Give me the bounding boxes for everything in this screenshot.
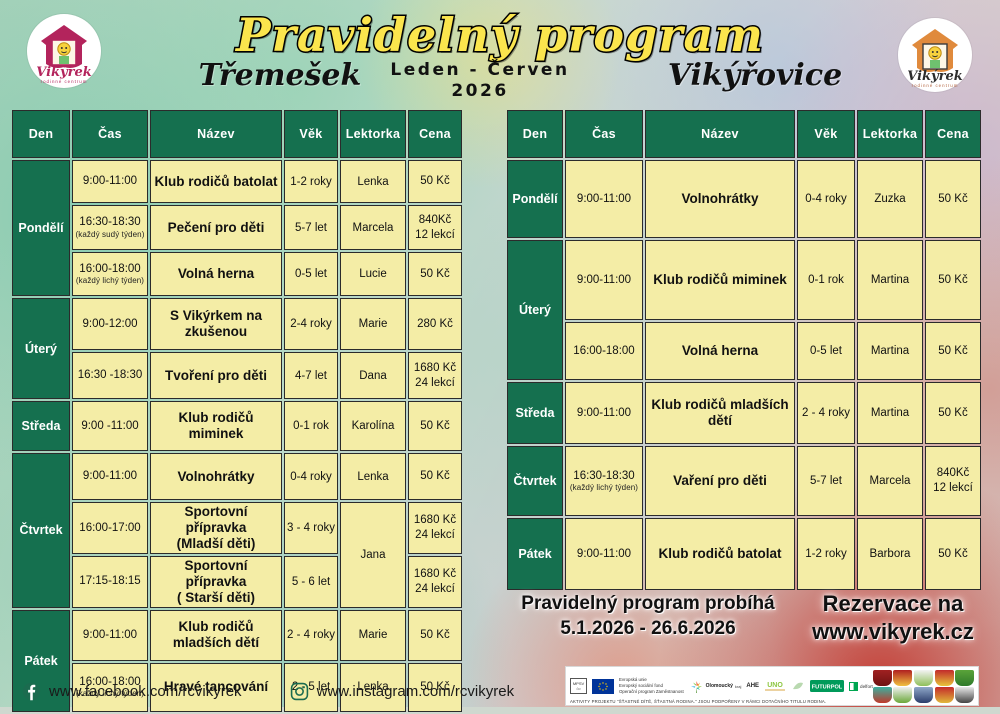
lektorka-cell: Marie <box>340 610 406 661</box>
time-cell: 16:30 -18:30 <box>72 352 148 399</box>
lektorka-cell: Lenka <box>340 453 406 500</box>
svg-text:Vikýrek: Vikýrek <box>907 69 963 84</box>
column-header-čas: Čas <box>565 110 643 158</box>
poster-header: Vikýrek rodinné centrum Vikýrek rodinné … <box>0 0 1000 108</box>
table-body-left: Pondělí9:00-11:00Klub rodičů batolat1-2 … <box>12 160 462 712</box>
crest <box>955 670 974 686</box>
activity-name-cell: Volná herna <box>645 322 795 380</box>
table-row: 16:30 -18:30Tvoření pro děti4-7 letDana1… <box>12 352 462 399</box>
crest <box>914 687 933 703</box>
day-cell: Středa <box>507 382 563 444</box>
table-row: Čtvrtek9:00-11:00Volnohrátky0-4 rokyLenk… <box>12 453 462 500</box>
time-cell: 9:00 -11:00 <box>72 401 148 451</box>
sponsor-strip: MPSVČR Evropská unieEvropský sociální fo… <box>565 666 979 706</box>
price-cell: 840Kč12 lekcí <box>408 205 462 250</box>
activity-name-cell: Tvoření pro děti <box>150 352 282 399</box>
svg-text:MPSV: MPSV <box>573 681 585 686</box>
activity-name-cell: Volnohrátky <box>150 453 282 500</box>
activity-name-cell: Vaření pro děti <box>645 446 795 516</box>
age-cell: 0-4 roky <box>797 160 855 238</box>
time-cell: 9:00-11:00 <box>565 160 643 238</box>
sponsor-uno: UNO <box>764 679 786 694</box>
day-cell: Čtvrtek <box>507 446 563 516</box>
column-header-čas: Čas <box>72 110 148 158</box>
sponsor-logos: MPSVČR Evropská unieEvropský sociální fo… <box>566 679 873 694</box>
age-cell: 5 - 6 let <box>284 556 338 608</box>
time-cell: 16:00-18:00(každý lichý týden) <box>72 252 148 296</box>
facebook-icon <box>22 682 41 701</box>
table-row: Pondělí9:00-11:00Volnohrátky0-4 rokyZuzk… <box>507 160 981 238</box>
lektorka-cell: Dana <box>340 352 406 399</box>
activity-name-cell: Sportovní přípravka(Mladší děti) <box>150 502 282 554</box>
day-cell: Úterý <box>507 240 563 380</box>
price-cell: 1680 Kč24 lekcí <box>408 502 462 554</box>
table-row: Úterý9:00-12:00S Vikýrkem na zkušenou2-4… <box>12 298 462 350</box>
price-cell: 50 Kč <box>925 518 981 590</box>
lektorka-cell: Lucie <box>340 252 406 296</box>
age-cell: 2 - 4 roky <box>284 610 338 661</box>
lektorka-cell: Zuzka <box>857 160 923 238</box>
time-note: (každý lichý týden) <box>75 276 145 286</box>
age-cell: 3 - 4 roky <box>284 502 338 554</box>
price-cell: 50 Kč <box>925 382 981 444</box>
crest <box>935 670 954 686</box>
column-header-den: Den <box>507 110 563 158</box>
price-cell: 1680 Kč24 lekcí <box>408 556 462 608</box>
svg-text:FUTURPOL: FUTURPOL <box>812 684 843 690</box>
table-row: Úterý9:00-11:00Klub rodičů miminek0-1 ro… <box>507 240 981 320</box>
price-cell: 840Kč12 lekcí <box>925 446 981 516</box>
promo-text: Pravidelný program probíhá5.1.2026 - 26.… <box>498 592 798 641</box>
column-header-název: Název <box>150 110 282 158</box>
column-header-den: Den <box>12 110 70 158</box>
age-cell: 2 - 4 roky <box>797 382 855 444</box>
table-header-left: DenČasNázevVěkLektorkaCena <box>12 110 462 158</box>
lektorka-cell: Barbora <box>857 518 923 590</box>
price-cell: 50 Kč <box>408 401 462 451</box>
price-cell: 50 Kč <box>925 322 981 380</box>
day-cell: Čtvrtek <box>12 453 70 608</box>
column-header-lektorka: Lektorka <box>340 110 406 158</box>
day-cell: Středa <box>12 401 70 451</box>
lektorka-cell: Martina <box>857 322 923 380</box>
facebook-link[interactable]: www.facebook.com/rcvikyrek <box>22 682 242 701</box>
price-cell: 50 Kč <box>408 610 462 661</box>
age-cell: 5-7 let <box>797 446 855 516</box>
table-row: Čtvrtek16:30-18:30(každý lichý týden)Vař… <box>507 446 981 516</box>
time-cell: 16:00-17:00 <box>72 502 148 554</box>
crest <box>955 687 974 703</box>
activity-name-cell: Klub rodičů miminek <box>150 401 282 451</box>
schedule-table-tremesek: DenČasNázevVěkLektorkaCena Pondělí9:00-1… <box>10 108 464 714</box>
time-cell: 9:00-11:00 <box>565 518 643 590</box>
activity-name-cell: Sportovní přípravka( Starší děti) <box>150 556 282 608</box>
crest <box>873 670 892 686</box>
age-cell: 0-5 let <box>797 322 855 380</box>
activity-name-cell: Klub rodičů miminek <box>645 240 795 320</box>
time-cell: 9:00-11:00 <box>565 382 643 444</box>
crest <box>914 670 933 686</box>
svg-text:rodinné centrum: rodinné centrum <box>912 83 959 88</box>
sponsor-eu <box>592 679 614 694</box>
instagram-icon <box>290 682 309 701</box>
sponsor-note: AKTIVITY PROJEKTU "ŠŤASTNÉ DÍTĚ, ŠŤASTNÁ… <box>570 699 900 704</box>
time-note: (každý lichý týden) <box>568 483 640 493</box>
activity-name-cell: Volnohrátky <box>645 160 795 238</box>
age-cell: 2-4 roky <box>284 298 338 350</box>
day-cell: Pondělí <box>12 160 70 296</box>
time-cell: 16:30-18:30(každý lichý týden) <box>565 446 643 516</box>
lektorka-cell: Jana <box>340 502 406 608</box>
table-row: 16:00-17:00Sportovní přípravka(Mladší dě… <box>12 502 462 554</box>
day-cell: Pondělí <box>507 160 563 238</box>
crest <box>935 687 954 703</box>
age-cell: 0-1 rok <box>797 240 855 320</box>
activity-name-cell: Volná herna <box>150 252 282 296</box>
table-row: Středa9:00 -11:00Klub rodičů miminek0-1 … <box>12 401 462 451</box>
lektorka-cell: Martina <box>857 382 923 444</box>
table-row: Pondělí9:00-11:00Klub rodičů batolat1-2 … <box>12 160 462 203</box>
age-cell: 4-7 let <box>284 352 338 399</box>
time-cell: 9:00-11:00 <box>565 240 643 320</box>
activity-name-cell: S Vikýrkem na zkušenou <box>150 298 282 350</box>
age-cell: 5-7 let <box>284 205 338 250</box>
subtitle-vikyrovice: Vikýřovice <box>600 58 910 93</box>
column-header-věk: Věk <box>797 110 855 158</box>
sponsor-delfort: delfort <box>849 679 873 694</box>
column-header-název: Název <box>645 110 795 158</box>
sponsor-olomoucky-kraj: Olomouckýkraj <box>689 679 742 694</box>
price-cell: 1680 Kč24 lekcí <box>408 352 462 399</box>
svg-text:Vikýrek: Vikýrek <box>36 65 92 80</box>
activity-name-cell: Klub rodičů mladších dětí <box>150 610 282 661</box>
header-row: DenČasNázevVěkLektorkaCena <box>507 110 981 158</box>
age-cell: 1-2 roky <box>797 518 855 590</box>
svg-text:UNO: UNO <box>767 682 783 689</box>
column-header-lektorka: Lektorka <box>857 110 923 158</box>
activity-name-cell: Klub rodičů mladších dětí <box>645 382 795 444</box>
period-label: Leden - Červen2026 <box>380 60 580 103</box>
facebook-url: www.facebook.com/rcvikyrek <box>49 683 242 700</box>
sponsor-leaf <box>791 679 805 694</box>
svg-text:rodinné centrum: rodinné centrum <box>41 79 88 84</box>
time-cell: 9:00-11:00 <box>72 453 148 500</box>
time-cell: 9:00-11:00 <box>72 610 148 661</box>
crest <box>893 670 912 686</box>
lektorka-cell: Lenka <box>340 160 406 203</box>
reservation-text: Rezervace nawww.vikyrek.cz <box>786 590 1000 646</box>
table-row: 16:00-18:00(každý lichý týden)Volná hern… <box>12 252 462 296</box>
table-row: 16:00-18:00Volná herna0-5 letMartina50 K… <box>507 322 981 380</box>
time-note: (každý sudý týden) <box>75 230 145 240</box>
page-title: Pravidelný program <box>0 8 1000 62</box>
time-cell: 9:00-12:00 <box>72 298 148 350</box>
table-header-right: DenČasNázevVěkLektorkaCena <box>507 110 981 158</box>
day-cell: Pátek <box>507 518 563 590</box>
sponsor-ahe: AHE <box>746 679 759 694</box>
table-row: Pátek9:00-11:00Klub rodičů mladších dětí… <box>12 610 462 661</box>
municipal-crests <box>873 670 978 703</box>
column-header-cena: Cena <box>408 110 462 158</box>
time-cell: 9:00-11:00 <box>72 160 148 203</box>
sponsor-mpsv: MPSVČR <box>570 679 587 694</box>
table-body-right: Pondělí9:00-11:00Volnohrátky0-4 rokyZuzk… <box>507 160 981 590</box>
age-cell: 1-2 roky <box>284 160 338 203</box>
price-cell: 50 Kč <box>925 240 981 320</box>
sponsor-eu-label: Evropská unieEvropský sociální fondOpera… <box>619 679 684 694</box>
price-cell: 50 Kč <box>408 453 462 500</box>
instagram-link[interactable]: www.instagram.com/rcvikyrek <box>290 682 515 701</box>
lektorka-cell: Marie <box>340 298 406 350</box>
price-cell: 50 Kč <box>925 160 981 238</box>
price-cell: 280 Kč <box>408 298 462 350</box>
day-cell: Úterý <box>12 298 70 399</box>
table-row: 16:30-18:30(každý sudý týden)Pečení pro … <box>12 205 462 250</box>
time-cell: 16:30-18:30(každý sudý týden) <box>72 205 148 250</box>
schedule-table-vikyrovice: DenČasNázevVěkLektorkaCena Pondělí9:00-1… <box>505 108 983 592</box>
lektorka-cell: Martina <box>857 240 923 320</box>
table-row: Pátek9:00-11:00Klub rodičů batolat1-2 ro… <box>507 518 981 590</box>
sponsor-futurpol: FUTURPOL <box>810 679 844 694</box>
instagram-url: www.instagram.com/rcvikyrek <box>317 683 515 700</box>
activity-name-cell: Pečení pro děti <box>150 205 282 250</box>
activity-name-cell: Klub rodičů batolat <box>645 518 795 590</box>
price-cell: 50 Kč <box>408 160 462 203</box>
column-header-cena: Cena <box>925 110 981 158</box>
activity-name-cell: Klub rodičů batolat <box>150 160 282 203</box>
time-cell: 17:15-18:15 <box>72 556 148 608</box>
lektorka-cell: Karolína <box>340 401 406 451</box>
lektorka-cell: Marcela <box>857 446 923 516</box>
table-row: Středa9:00-11:00Klub rodičů mladších dět… <box>507 382 981 444</box>
column-header-věk: Věk <box>284 110 338 158</box>
age-cell: 0-1 rok <box>284 401 338 451</box>
age-cell: 0-4 roky <box>284 453 338 500</box>
lektorka-cell: Marcela <box>340 205 406 250</box>
price-cell: 50 Kč <box>408 252 462 296</box>
age-cell: 0-5 let <box>284 252 338 296</box>
time-cell: 16:00-18:00 <box>565 322 643 380</box>
header-row: DenČasNázevVěkLektorkaCena <box>12 110 462 158</box>
